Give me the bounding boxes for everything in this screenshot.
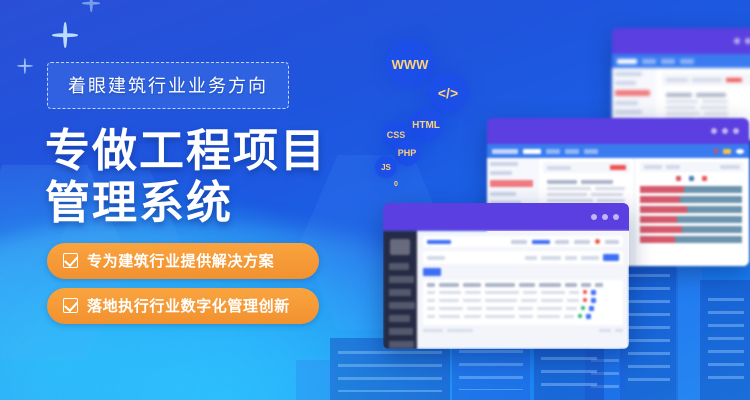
sidebar-item[interactable]	[389, 315, 410, 322]
tree-item[interactable]	[615, 101, 638, 105]
notification-badge[interactable]	[714, 149, 718, 153]
tagline-text: 着眼建筑行业业务方向	[68, 76, 268, 96]
building-windows	[708, 293, 744, 388]
tab-item[interactable]	[546, 149, 560, 154]
headline-line-1: 专做工程项目	[45, 125, 327, 176]
building-windows	[628, 256, 670, 386]
window-dot	[613, 214, 619, 220]
window-titlebar	[612, 28, 750, 54]
bubble-html-icon: HTML	[409, 108, 443, 142]
dashboard-content	[417, 231, 629, 349]
topbar-menu-item-active[interactable]	[532, 240, 550, 244]
search-button[interactable]	[603, 254, 619, 261]
table-row	[427, 298, 619, 303]
table-header-row	[427, 283, 619, 287]
window-titlebar	[487, 118, 749, 144]
sidebar-item[interactable]	[389, 263, 409, 270]
window-dot	[745, 38, 750, 44]
chart-bar	[640, 216, 744, 223]
tagline-box: 着眼建筑行业业务方向	[47, 62, 289, 109]
tab-item[interactable]	[617, 59, 637, 64]
tab-item[interactable]	[523, 149, 541, 154]
chart-bar	[640, 206, 744, 213]
dashboard-mock-front	[383, 203, 629, 349]
feature-pill-1[interactable]: 专为建筑行业提供解决方案	[47, 243, 319, 279]
feature-pill-1-label: 专为建筑行业提供解决方案	[87, 250, 274, 271]
bubble-zero-icon: 0	[388, 176, 404, 192]
add-button[interactable]	[423, 268, 441, 276]
tree-item-selected[interactable]	[615, 90, 650, 96]
table-row	[547, 199, 626, 202]
tree-item[interactable]	[615, 110, 642, 114]
status-icon	[723, 149, 731, 154]
bubble-code-icon: </>	[428, 73, 468, 113]
sidebar-item[interactable]	[389, 276, 414, 283]
legend-item	[702, 176, 709, 182]
dashboard-sidebar[interactable]	[383, 231, 417, 349]
legend-item	[676, 176, 683, 182]
sidebar-item[interactable]	[389, 341, 414, 348]
data-table	[423, 280, 623, 325]
tab-item[interactable]	[642, 59, 656, 64]
chart-bar	[640, 186, 744, 193]
notification-badge[interactable]	[595, 239, 600, 244]
checkbox-checked-icon	[63, 298, 78, 313]
window-dot	[602, 214, 608, 220]
dashboard-topbar[interactable]	[423, 236, 623, 247]
bubble-php-icon: PHP	[394, 140, 420, 166]
filter-bar[interactable]	[423, 251, 623, 264]
dashboard-tabbar[interactable]	[612, 54, 750, 68]
table-row	[666, 100, 750, 103]
table-row	[547, 193, 626, 196]
chart-bar	[640, 196, 744, 203]
window-dot	[722, 128, 728, 134]
window-dot	[733, 128, 739, 134]
table-row	[547, 180, 626, 184]
topbar-menu-item[interactable]	[574, 240, 590, 244]
sidebar-item[interactable]	[389, 302, 415, 309]
topbar-menu-item[interactable]	[555, 240, 569, 244]
page-title: 专做工程项目 管理系统	[45, 125, 327, 229]
tab-item[interactable]	[680, 59, 694, 64]
building-windows	[541, 352, 597, 392]
table-row	[666, 93, 750, 97]
user-menu[interactable]	[605, 240, 619, 244]
tab-item[interactable]	[661, 59, 675, 64]
window-dot	[734, 38, 740, 44]
app-logo	[390, 239, 410, 255]
promo-banner: WWW </> HTML CSS PHP JS 0	[0, 0, 750, 400]
bubble-www-icon: WWW	[386, 40, 434, 88]
table-row	[666, 106, 750, 109]
headline-block: 着眼建筑行业业务方向 专做工程项目 管理系统 专为建筑行业提供解决方案 落地执行…	[0, 0, 360, 400]
window-dot	[711, 128, 717, 134]
feature-pill-2-label: 落地执行行业数字化管理创新	[87, 295, 290, 316]
sidebar-item[interactable]	[389, 289, 411, 296]
headline-line-2: 管理系统	[45, 177, 327, 229]
pagination	[423, 329, 623, 332]
page-title	[427, 240, 451, 244]
tab-item[interactable]	[565, 149, 579, 154]
sidebar-item[interactable]	[389, 328, 413, 335]
table-row	[666, 112, 750, 115]
checkbox-checked-icon	[63, 253, 78, 268]
building	[700, 280, 750, 400]
feature-pill-list: 专为建筑行业提供解决方案 落地执行行业数字化管理创新	[47, 243, 319, 333]
window-dot	[591, 214, 597, 220]
chart-legend	[640, 176, 744, 182]
chart-bar	[640, 236, 744, 243]
legend-item	[689, 176, 696, 182]
tree-item[interactable]	[615, 72, 642, 76]
topbar-menu-item[interactable]	[511, 240, 527, 244]
table-row	[427, 290, 619, 295]
dashboard-tabbar[interactable]	[487, 144, 749, 158]
tab-item[interactable]	[584, 149, 598, 154]
tree-item[interactable]	[615, 81, 636, 85]
tech-bubble-cluster: WWW </> HTML CSS PHP JS 0	[370, 28, 500, 218]
table-row	[427, 306, 619, 311]
bar-chart	[635, 158, 749, 266]
bubble-js-icon: JS	[375, 156, 397, 178]
chart-bar	[640, 226, 744, 233]
avatar[interactable]	[736, 149, 744, 154]
feature-pill-2[interactable]: 落地执行行业数字化管理创新	[47, 288, 319, 324]
building	[534, 344, 604, 400]
table-row	[547, 187, 626, 190]
table-row	[427, 314, 619, 319]
